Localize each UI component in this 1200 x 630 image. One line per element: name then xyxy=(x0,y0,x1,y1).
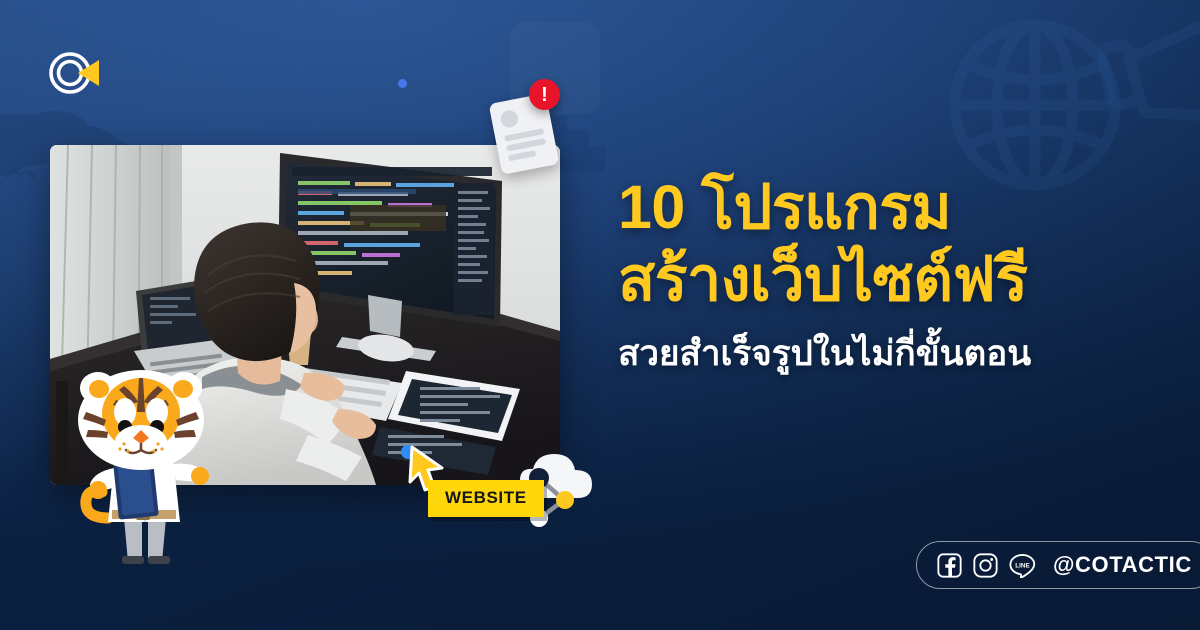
alert-glyph: ! xyxy=(541,85,548,105)
headline-line-1: 10 โปรแกรม xyxy=(618,172,1158,244)
instagram-icon[interactable] xyxy=(973,553,998,578)
banner-canvas: ! WEBSITE xyxy=(0,0,1200,630)
headline-block: 10 โปรแกรม สร้างเว็บไซต์ฟรี สวยสำเร็จรูป… xyxy=(618,172,1158,376)
headline-line-2: สร้างเว็บไซต์ฟรี xyxy=(618,244,1158,316)
subheadline: สวยสำเร็จรูปในไม่กี่ขั้นตอน xyxy=(618,332,1158,376)
bird-silhouette xyxy=(5,165,35,183)
social-handle-pill[interactable]: LINE @COTACTIC xyxy=(916,541,1200,589)
line-icon[interactable]: LINE xyxy=(1009,553,1036,578)
svg-text:LINE: LINE xyxy=(1015,562,1029,569)
website-badge: WEBSITE xyxy=(428,480,544,517)
social-handle-text: @COTACTIC xyxy=(1053,552,1192,578)
tiger-mascot xyxy=(72,368,210,564)
cotactic-target-megaphone-logo[interactable] xyxy=(47,47,103,99)
blue-dot xyxy=(398,79,407,88)
facebook-icon[interactable] xyxy=(937,553,962,578)
alert-exclamation-icon: ! xyxy=(529,79,560,110)
megaphone-icon xyxy=(1098,22,1200,162)
